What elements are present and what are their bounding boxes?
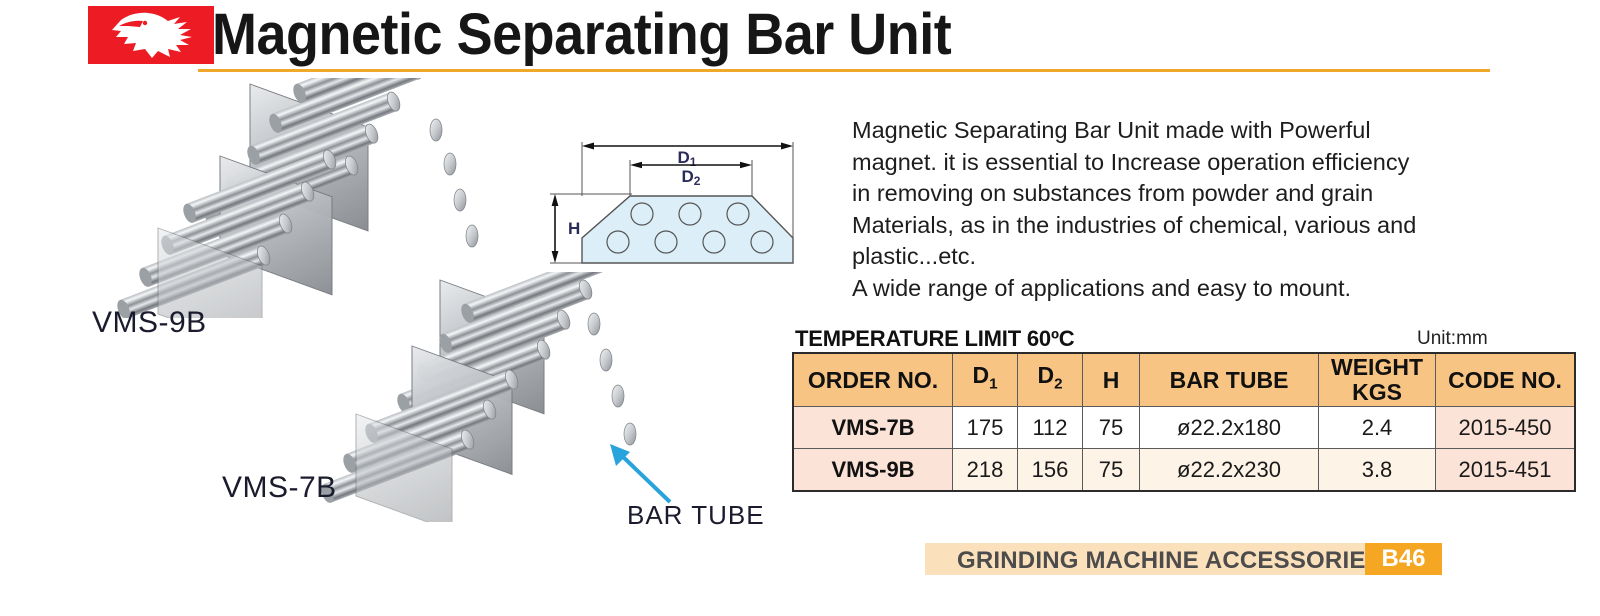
cell-weight: 2.4 [1319, 407, 1436, 449]
cell-weight: 3.8 [1319, 449, 1436, 492]
table-row: VMS-9B 218 156 75 ø22.2x230 3.8 2015-451 [793, 449, 1575, 492]
description-line: A wide range of applications and easy to… [852, 273, 1502, 305]
description-line: Materials, as in the industries of chemi… [852, 210, 1502, 242]
cell-order-no: VMS-7B [793, 407, 953, 449]
column-header-h: H [1083, 353, 1140, 407]
footer-page-number: B46 [1365, 543, 1442, 575]
eagle-head-logo [88, 6, 214, 64]
column-header-order-no: ORDER NO. [793, 353, 953, 407]
column-header-d1: D1 [953, 353, 1018, 407]
dimension-label-d2: D2 [682, 167, 701, 188]
cell-code-no: 2015-450 [1436, 407, 1576, 449]
description-line: plastic...etc. [852, 241, 1502, 273]
cell-h: 75 [1083, 449, 1140, 492]
column-header-code-no: CODE NO. [1436, 353, 1576, 407]
footer-category-label: GRINDING MACHINE ACCESSORIES [957, 547, 1382, 575]
description-line: magnet. it is essential to Increase oper… [852, 147, 1502, 179]
table-row: VMS-7B 175 112 75 ø22.2x180 2.4 2015-450 [793, 407, 1575, 449]
footer-page-badge: B46 [1365, 543, 1442, 575]
title-divider [198, 69, 1490, 72]
product-description: Magnetic Separating Bar Unit made with P… [852, 115, 1502, 305]
cell-bar-tube: ø22.2x230 [1140, 449, 1319, 492]
cell-h: 75 [1083, 407, 1140, 449]
column-header-weight: WEIGHTKGS [1319, 353, 1436, 407]
cell-d2: 156 [1018, 449, 1083, 492]
description-line: in removing on substances from powder an… [852, 178, 1502, 210]
bar-tube-callout-label: BAR TUBE [627, 500, 765, 531]
cross-section-dimension-diagram: D1 D2 H [520, 118, 820, 283]
product-label-vms7b: VMS-7B [222, 471, 337, 505]
cell-bar-tube: ø22.2x180 [1140, 407, 1319, 449]
temperature-limit-label: TEMPERATURE LIMIT 60ºC [795, 326, 1074, 352]
dimension-label-h: H [568, 219, 580, 238]
product-label-vms9b: VMS-9B [92, 306, 207, 340]
cell-d1: 218 [953, 449, 1018, 492]
table-header-row: ORDER NO. D1 D2 H BAR TUBE WEIGHTKGS COD… [793, 353, 1575, 407]
footer-category-band: GRINDING MACHINE ACCESSORIES [925, 543, 1365, 575]
page-header: Magnetic Separating Bar Unit [0, 0, 1600, 78]
cell-d1: 175 [953, 407, 1018, 449]
dimension-label-d1: D1 [678, 148, 697, 169]
unit-note: Unit:mm [1417, 328, 1488, 350]
eagle-head-icon [88, 6, 214, 64]
column-header-bar-tube: BAR TUBE [1140, 353, 1319, 407]
cell-code-no: 2015-451 [1436, 449, 1576, 492]
description-line: Magnetic Separating Bar Unit made with P… [852, 115, 1502, 147]
specification-table: ORDER NO. D1 D2 H BAR TUBE WEIGHTKGS COD… [792, 352, 1576, 492]
column-header-d2: D2 [1018, 353, 1083, 407]
cell-d2: 112 [1018, 407, 1083, 449]
page-title: Magnetic Separating Bar Unit [212, 4, 951, 66]
cell-order-no: VMS-9B [793, 449, 953, 492]
